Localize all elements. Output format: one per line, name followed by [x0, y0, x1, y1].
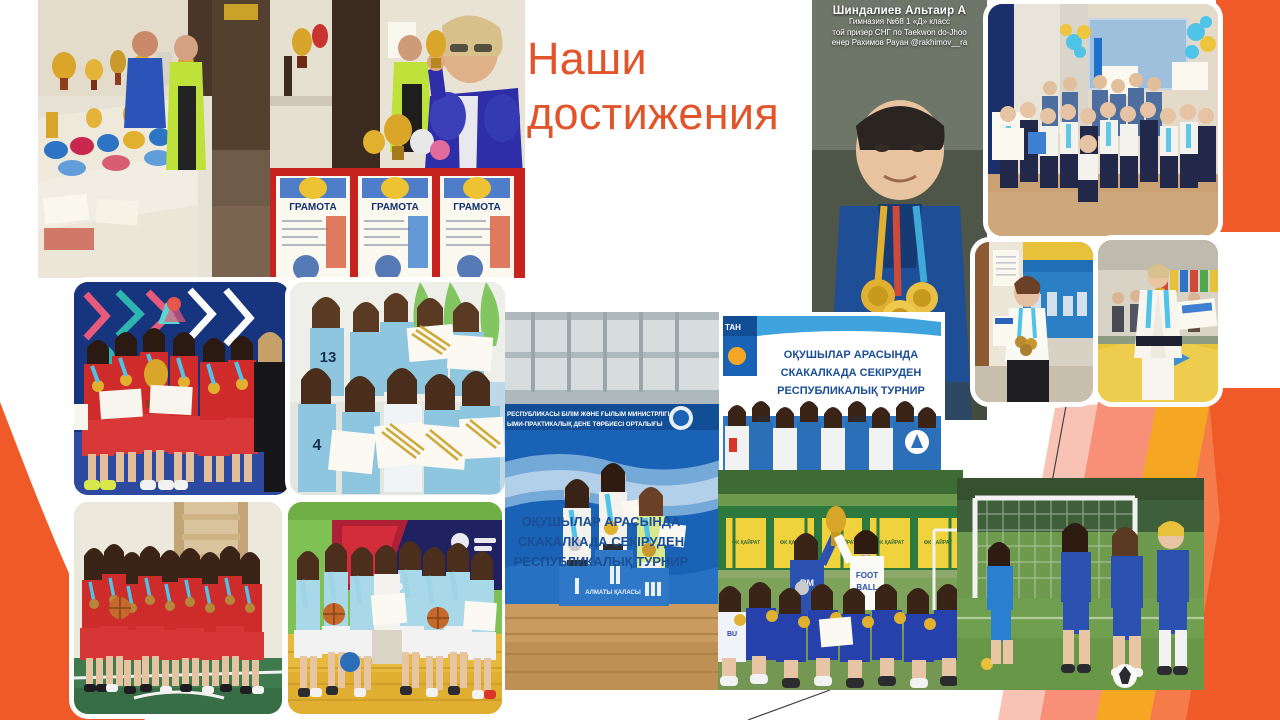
svg-text:ФК ҚАЙРАТ: ФК ҚАЙРАТ: [876, 538, 904, 546]
svg-text:РЕСПУБЛИКАСЫ БІЛІМ ЖӘНЕ ҒЫЛЫМ: РЕСПУБЛИКАСЫ БІЛІМ ЖӘНЕ ҒЫЛЫМ МИНИСТРЛІГ…: [507, 411, 670, 418]
photo-football-team-girls-with-cup[interactable]: ФК ҚАЙРАТФК ҚАЙРАТ ФК ҚАЙРАТФК ҚАЙРАТФК …: [718, 470, 963, 690]
photo-karate-boy-on-tatami[interactable]: [1098, 240, 1218, 402]
svg-text:ЫМИ-ПРАКТИКАЛЫҚ ДЕНЕ ТӘРБИЕСІ: ЫМИ-ПРАКТИКАЛЫҚ ДЕНЕ ТӘРБИЕСІ ОРТАЛЫҒЫ: [507, 421, 663, 428]
caption-school: Гимназия №68 1 «Д» класс: [818, 17, 981, 28]
caption-achievement: той призер СНГ по Taekwon do-Jhoo: [818, 28, 981, 39]
svg-text:ФК ҚАЙРАТ: ФК ҚАЙРАТ: [732, 538, 760, 546]
svg-text:4: 4: [313, 437, 322, 454]
svg-text:ОҚУШЫЛАР АРАСЫНДА: ОҚУШЫЛАР АРАСЫНДА: [784, 349, 918, 361]
svg-text:ГРАМОТА: ГРАМОТА: [371, 202, 419, 213]
photo-caption-taekwondo: Шиндалиев Альтаир А Гимназия №68 1 «Д» к…: [812, 0, 987, 56]
presentation-slide: Наши достижения: [0, 0, 1280, 720]
svg-text:ОҚУШЫЛАР АРАСЫНДА: ОҚУШЫЛАР АРАСЫНДА: [522, 514, 681, 529]
right-orange-band-decoration: [1216, 0, 1280, 232]
svg-text:РЕСПУБЛИКАЛЫҚ ТУРНИР: РЕСПУБЛИКАЛЫҚ ТУРНИР: [514, 554, 689, 569]
svg-text:ТАН: ТАН: [725, 323, 741, 332]
caption-coach: енер Рахимов Раyан @rakhimov__ra: [818, 38, 981, 49]
svg-text:РЕСПУБЛИКАЛЫҚ ТУРНИР: РЕСПУБЛИКАЛЫҚ ТУРНИР: [777, 385, 925, 397]
photo-basketball-team-blue-banner[interactable]: P: [288, 502, 502, 714]
photo-trophies-display-table[interactable]: [38, 0, 270, 278]
photo-rope-skipping-podium[interactable]: РЕСПУБЛИКАСЫ БІЛІМ ЖӘНЕ ҒЫЛЫМ МИНИСТРЛІГ…: [505, 312, 720, 690]
photo-girl-with-medals-in-corridor[interactable]: [975, 242, 1093, 402]
svg-text:P: P: [393, 581, 404, 598]
svg-text:ГРАМОТА: ГРАМОТА: [289, 202, 337, 213]
photo-teacher-with-trophy-and-diplomas[interactable]: ГРАМОТА ГРАМОТА ГРАМОТА: [270, 0, 525, 278]
photo-basketball-team-red-with-cup[interactable]: [74, 282, 289, 495]
photo-rope-skipping-team-banner[interactable]: ТАН ОҚУШЫЛАР АРАСЫНДА СКАКАЛКАДА СЕКІРУД…: [723, 316, 941, 471]
page-title-line-1: Наши: [527, 32, 827, 87]
svg-text:ФК ҚАЙРАТ: ФК ҚАЙРАТ: [924, 538, 952, 546]
hairline-stroke-decoration-top-right: [1050, 408, 1090, 416]
photo-basketball-team-red-gym[interactable]: [74, 502, 282, 714]
photo-football-match-action[interactable]: [957, 478, 1204, 690]
page-title: Наши достижения: [527, 32, 827, 142]
page-title-line-2: достижения: [527, 87, 827, 142]
svg-text:АЛМАТЫ ҚАЛАСЫ: АЛМАТЫ ҚАЛАСЫ: [585, 590, 641, 596]
svg-text:13: 13: [320, 349, 337, 366]
svg-text:СКАКАЛКАДА СЕКІРУДЕН: СКАКАЛКАДА СЕКІРУДЕН: [781, 367, 922, 379]
caption-athlete-name: Шиндалиев Альтаир А: [818, 5, 981, 17]
hairline-stroke-decoration-bottom-center: [748, 690, 838, 720]
svg-text:ГРАМОТА: ГРАМОТА: [453, 202, 501, 213]
svg-text:СКАКАЛКАДА СЕКІРУДЕН: СКАКАЛКАДА СЕКІРУДЕН: [518, 534, 684, 549]
svg-text:BU: BU: [727, 631, 737, 638]
photo-school-award-ceremony-group[interactable]: [988, 4, 1218, 236]
photo-volleyball-team-blue-diplomas[interactable]: 13 4 7: [290, 282, 505, 495]
svg-text:FOOT: FOOT: [856, 571, 878, 580]
